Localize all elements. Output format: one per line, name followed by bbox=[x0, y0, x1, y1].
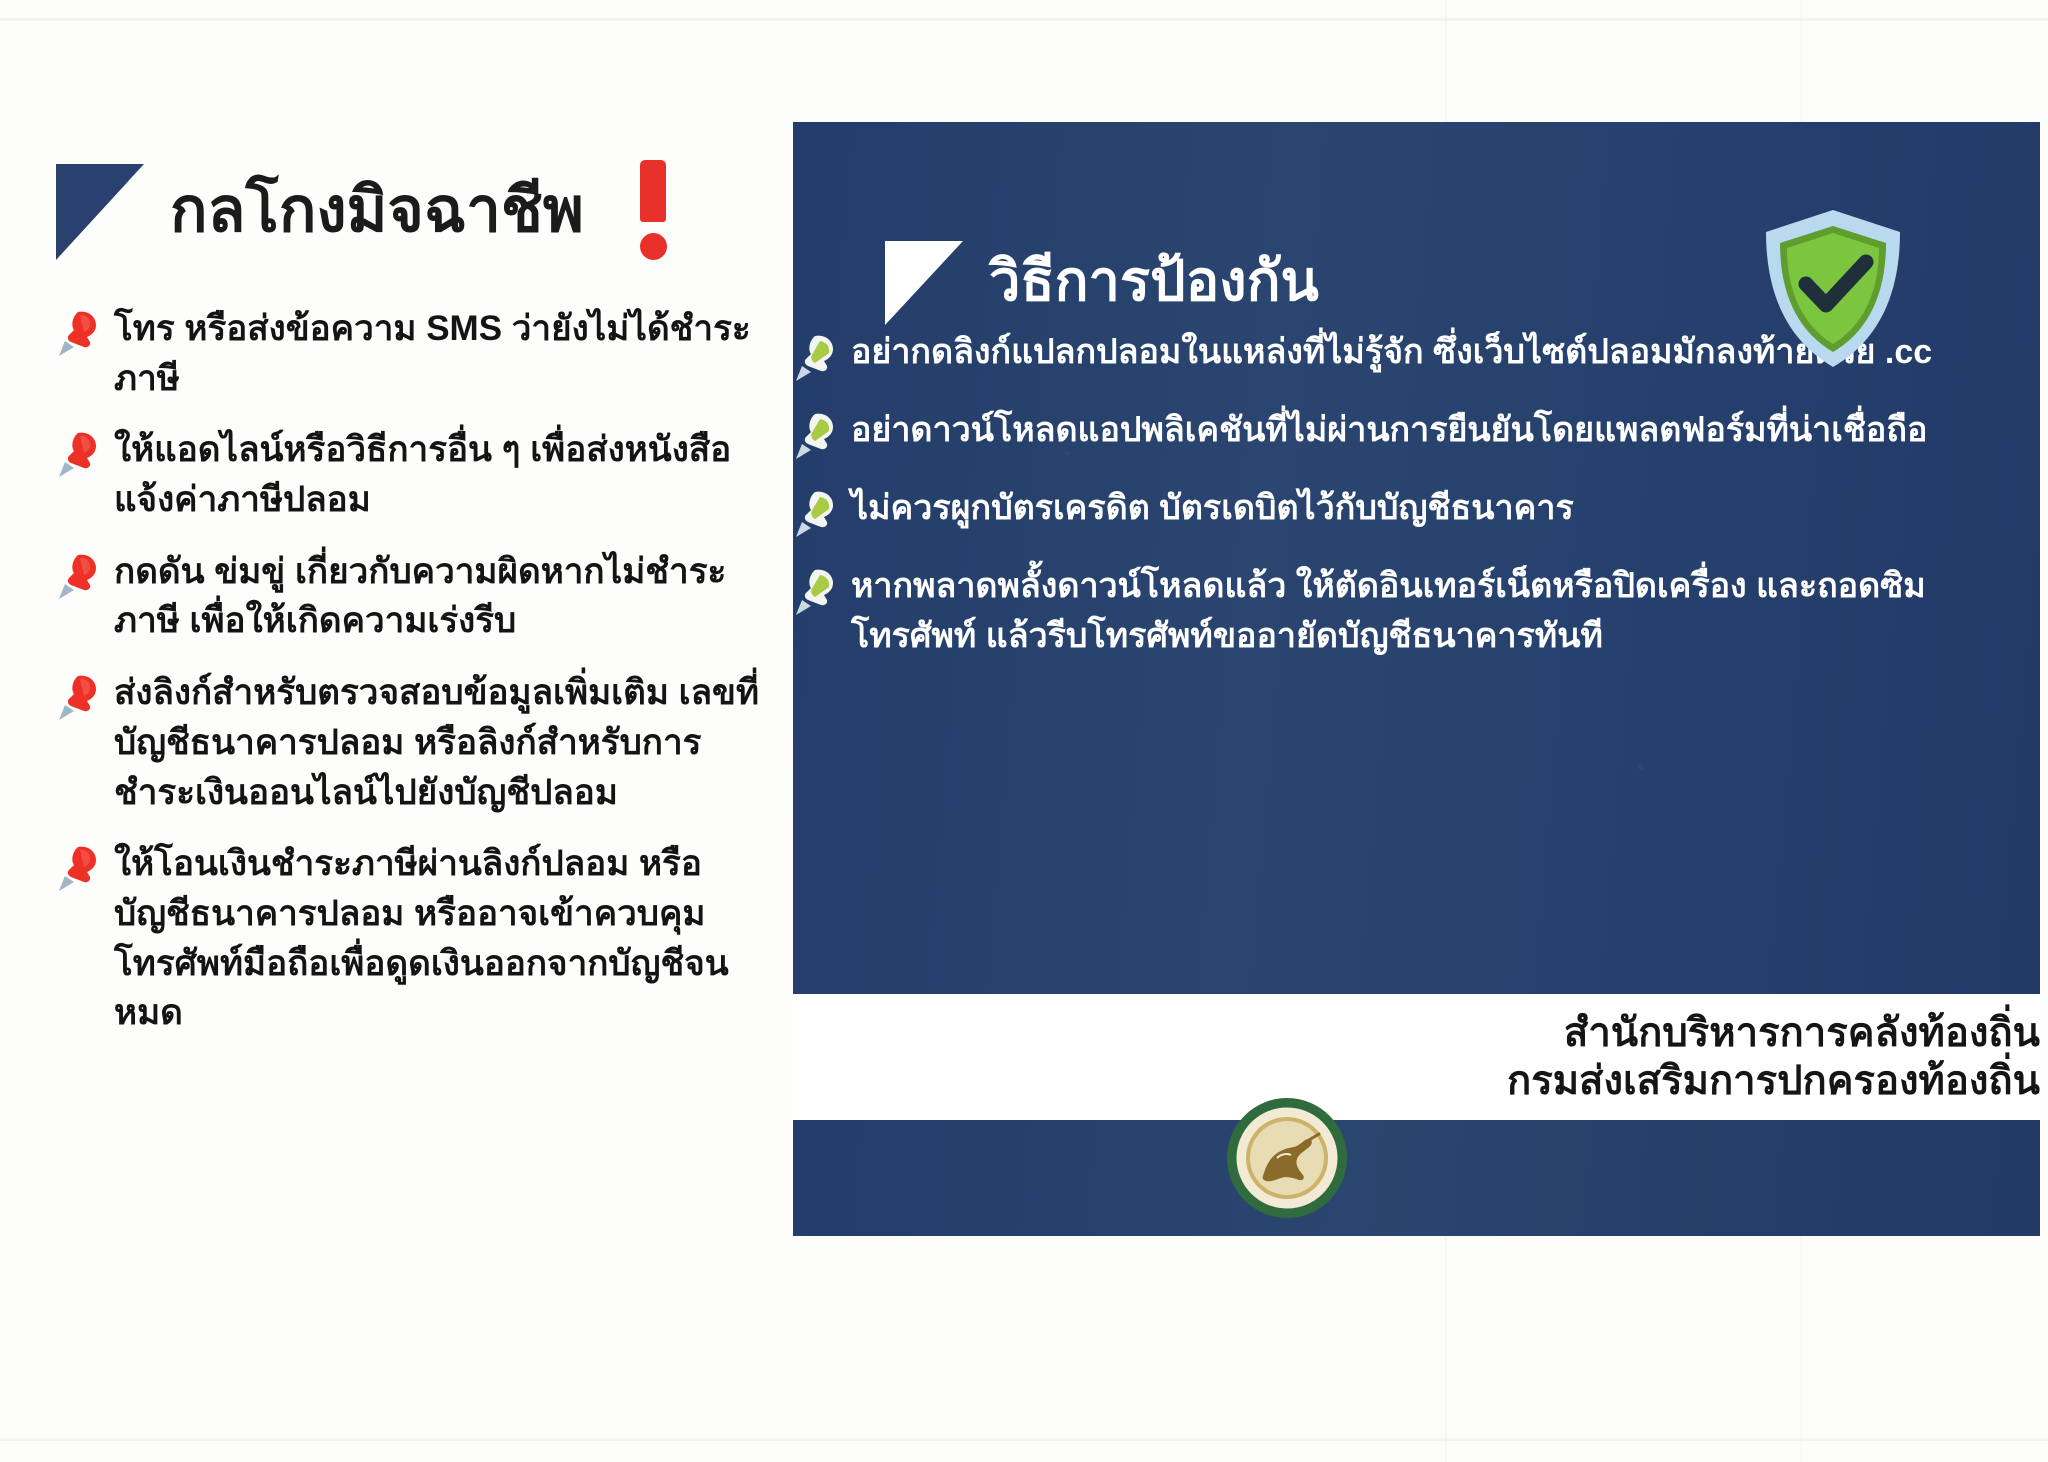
green-pushpin-icon bbox=[793, 566, 839, 618]
exclamation-mark-icon bbox=[640, 160, 667, 260]
green-pushpin-icon bbox=[793, 410, 839, 462]
navy-triangle-icon bbox=[56, 164, 144, 260]
list-item: ให้โอนเงินชำระภาษีผ่านลิงก์ปลอม หรือบัญช… bbox=[56, 839, 776, 1038]
white-triangle-icon bbox=[885, 241, 963, 325]
list-item: ส่งลิงก์สำหรับตรวจสอบข้อมูลเพิ่มเติม เลข… bbox=[56, 668, 776, 817]
footer-line-office: สำนักบริหารการคลังท้องถิ่น bbox=[1153, 1009, 2040, 1057]
list-item-text: อย่าดาวน์โหลดแอปพลิเคชันที่ไม่ผ่านการยืน… bbox=[851, 406, 1927, 456]
dla-singha-emblem-icon bbox=[1225, 1096, 1349, 1220]
scam-tactics-panel: กลโกงมิจฉาชีพ โทร หรือส่งข้อความ SMS ว่า… bbox=[56, 150, 776, 1060]
prevention-list: อย่ากดลิงก์แปลกปลอมในแหล่งที่ไม่รู้จัก ซ… bbox=[793, 328, 2040, 661]
list-item-text: กดดัน ข่มขู่ เกี่ยวกับความผิดหากไม่ชำระภ… bbox=[114, 547, 776, 646]
list-item-text: โทร หรือส่งข้อความ SMS ว่ายังไม่ได้ชำระภ… bbox=[114, 304, 776, 403]
footer-agency-block: สำนักบริหารการคลังท้องถิ่น กรมส่งเสริมกา… bbox=[793, 994, 2040, 1120]
list-item: หากพลาดพลั้งดาวน์โหลดแล้ว ให้ตัดอินเทอร์… bbox=[793, 562, 2040, 661]
list-item-text: ไม่ควรผูกบัตรเครดิต บัตรเดบิตไว้กับบัญชี… bbox=[851, 484, 1574, 534]
prevention-title: วิธีการป้องกัน bbox=[989, 236, 1319, 325]
exclamation-dot bbox=[640, 233, 667, 260]
green-shield-check-icon bbox=[1758, 206, 1908, 371]
scam-tactics-title: กลโกงมิจฉาชีพ bbox=[170, 161, 584, 259]
list-item: กดดัน ข่มขู่ เกี่ยวกับความผิดหากไม่ชำระภ… bbox=[56, 547, 776, 646]
prevention-panel: วิธีการป้องกัน อย่ากดลิงก์แปลกปลอมในแหล่… bbox=[793, 122, 2040, 994]
footer-agency-names: สำนักบริหารการคลังท้องถิ่น กรมส่งเสริมกา… bbox=[1153, 1009, 2040, 1105]
list-item-text: ส่งลิงก์สำหรับตรวจสอบข้อมูลเพิ่มเติม เลข… bbox=[114, 668, 776, 817]
list-item: ให้แอดไลน์หรือวิธีการอื่น ๆ เพื่อส่งหนัง… bbox=[56, 425, 776, 524]
list-item-text: หากพลาดพลั้งดาวน์โหลดแล้ว ให้ตัดอินเทอร์… bbox=[851, 562, 2040, 661]
scam-tactics-header: กลโกงมิจฉาชีพ bbox=[56, 150, 776, 270]
red-pushpin-icon bbox=[56, 672, 102, 724]
red-pushpin-icon bbox=[56, 551, 102, 603]
list-item: อย่าดาวน์โหลดแอปพลิเคชันที่ไม่ผ่านการยืน… bbox=[793, 406, 2040, 462]
exclamation-bar bbox=[640, 160, 666, 222]
green-pushpin-icon bbox=[793, 488, 839, 540]
red-pushpin-icon bbox=[56, 843, 102, 895]
panel-bottom-navy-band bbox=[793, 1120, 2040, 1236]
red-pushpin-icon bbox=[56, 429, 102, 481]
list-item: โทร หรือส่งข้อความ SMS ว่ายังไม่ได้ชำระภ… bbox=[56, 304, 776, 403]
green-pushpin-icon bbox=[793, 332, 839, 384]
list-item: ไม่ควรผูกบัตรเครดิต บัตรเดบิตไว้กับบัญชี… bbox=[793, 484, 2040, 540]
list-item-text: ให้แอดไลน์หรือวิธีการอื่น ๆ เพื่อส่งหนัง… bbox=[114, 425, 776, 524]
list-item-text: ให้โอนเงินชำระภาษีผ่านลิงก์ปลอม หรือบัญช… bbox=[114, 839, 776, 1038]
scam-tactics-list: โทร หรือส่งข้อความ SMS ว่ายังไม่ได้ชำระภ… bbox=[56, 304, 776, 1038]
red-pushpin-icon bbox=[56, 308, 102, 360]
paper-fold-horizontal-top bbox=[0, 18, 2048, 21]
paper-fold-horizontal-bottom bbox=[0, 1438, 2048, 1441]
